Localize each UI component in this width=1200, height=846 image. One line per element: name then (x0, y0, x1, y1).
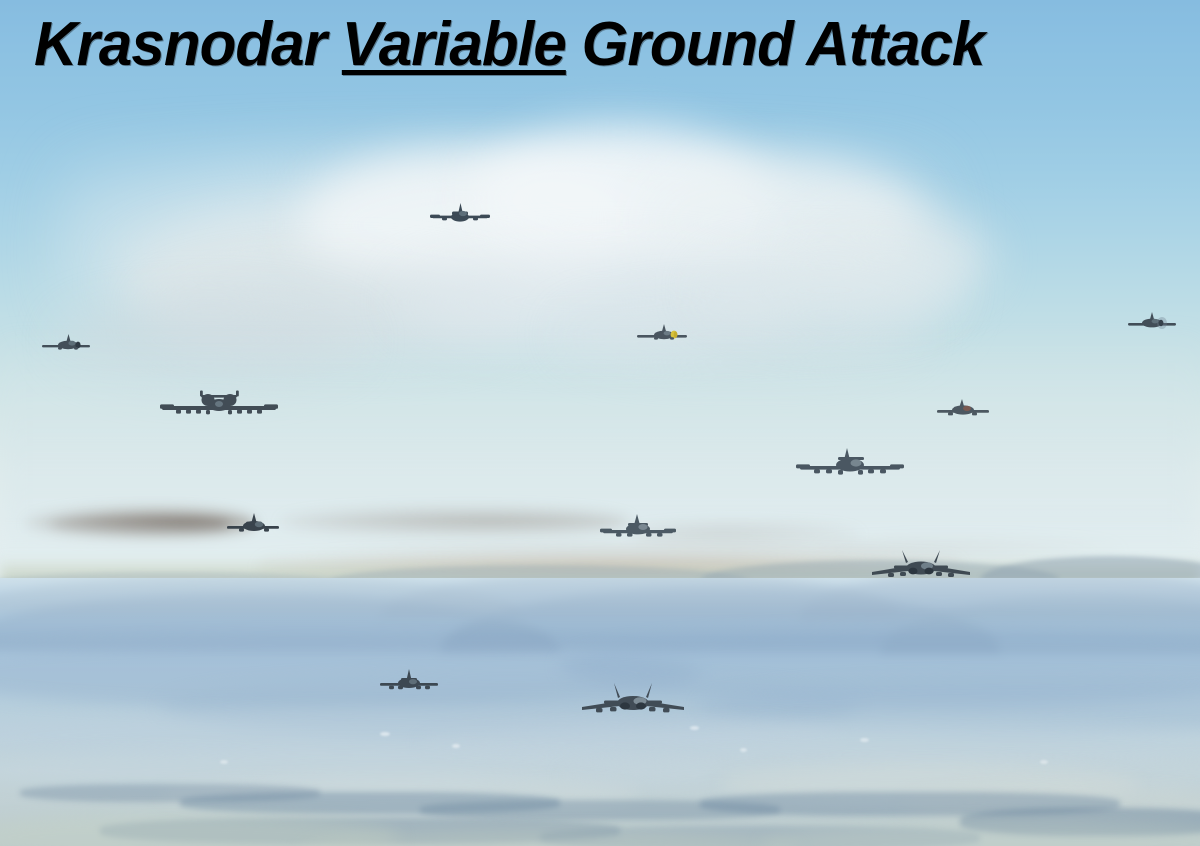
aircraft-su27-twin-tail-lower[interactable] (578, 680, 688, 728)
title-part-before: Krasnodar (34, 10, 342, 79)
aircraft-harrier-attack-jet[interactable] (796, 444, 904, 488)
aircraft-a10-warthog-left[interactable] (160, 388, 278, 430)
aircraft-jet-trainer-upper-center[interactable] (430, 196, 490, 232)
aircraft-su25-frogfoot-lower-left[interactable] (378, 665, 440, 699)
aircraft-prop-fighter-far-right[interactable] (1124, 306, 1182, 340)
aircraft-prop-fighter-left[interactable] (38, 328, 94, 362)
page-title: Krasnodar Variable Ground Attack (34, 10, 984, 80)
aircraft-mig29-twin-tail-right[interactable] (868, 546, 974, 592)
screenshot-root: Krasnodar Variable Ground Attack (0, 0, 1200, 846)
title-part-after: Ground Attack (566, 10, 985, 79)
aircraft-jet-swept-right[interactable] (934, 392, 992, 426)
title-part-underlined: Variable (342, 10, 566, 79)
aircraft-jet-smoke-trail-left[interactable] (224, 508, 282, 542)
aircraft-jet-attack-center[interactable] (600, 510, 676, 548)
aircraft-prop-mustang-center[interactable] (634, 318, 690, 352)
